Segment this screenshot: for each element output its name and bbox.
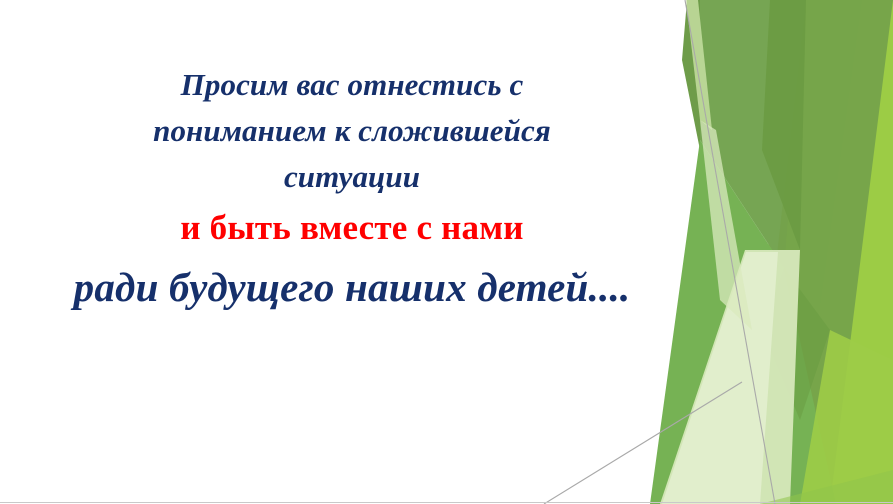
facet-guide-line-steep xyxy=(685,0,775,504)
facet-shape-descending-triangle xyxy=(773,0,893,504)
facet-shape-overlap-dark xyxy=(762,0,806,250)
text-line-5: ради будущего наших детей.... xyxy=(18,256,686,318)
facet-shape-main-green xyxy=(697,0,806,268)
facet-shape-bright-wedge xyxy=(735,0,862,504)
text-line-4-highlight: и быть вместе с нами xyxy=(18,200,686,256)
slide-text-body: Просим вас отнестись с пониманием к слож… xyxy=(18,62,686,318)
text-line-3: ситуации xyxy=(18,154,686,200)
facet-shape-top-sliver xyxy=(686,0,712,130)
facet-guide-line-shallow xyxy=(544,382,742,504)
text-line-2: пониманием к сложившейся xyxy=(18,108,686,154)
facet-shape-bottom-corner xyxy=(700,470,893,504)
facet-shape-pale-right xyxy=(790,0,893,504)
facet-shape-left-sliver xyxy=(700,120,752,330)
facet-shape-overlap-lower xyxy=(762,268,830,420)
text-line-1: Просим вас отнестись с xyxy=(18,62,686,108)
slide-canvas: Просим вас отнестись с пониманием к слож… xyxy=(0,0,893,504)
facet-shape-light-band xyxy=(793,0,893,504)
facet-shape-lower-accent xyxy=(800,330,893,504)
